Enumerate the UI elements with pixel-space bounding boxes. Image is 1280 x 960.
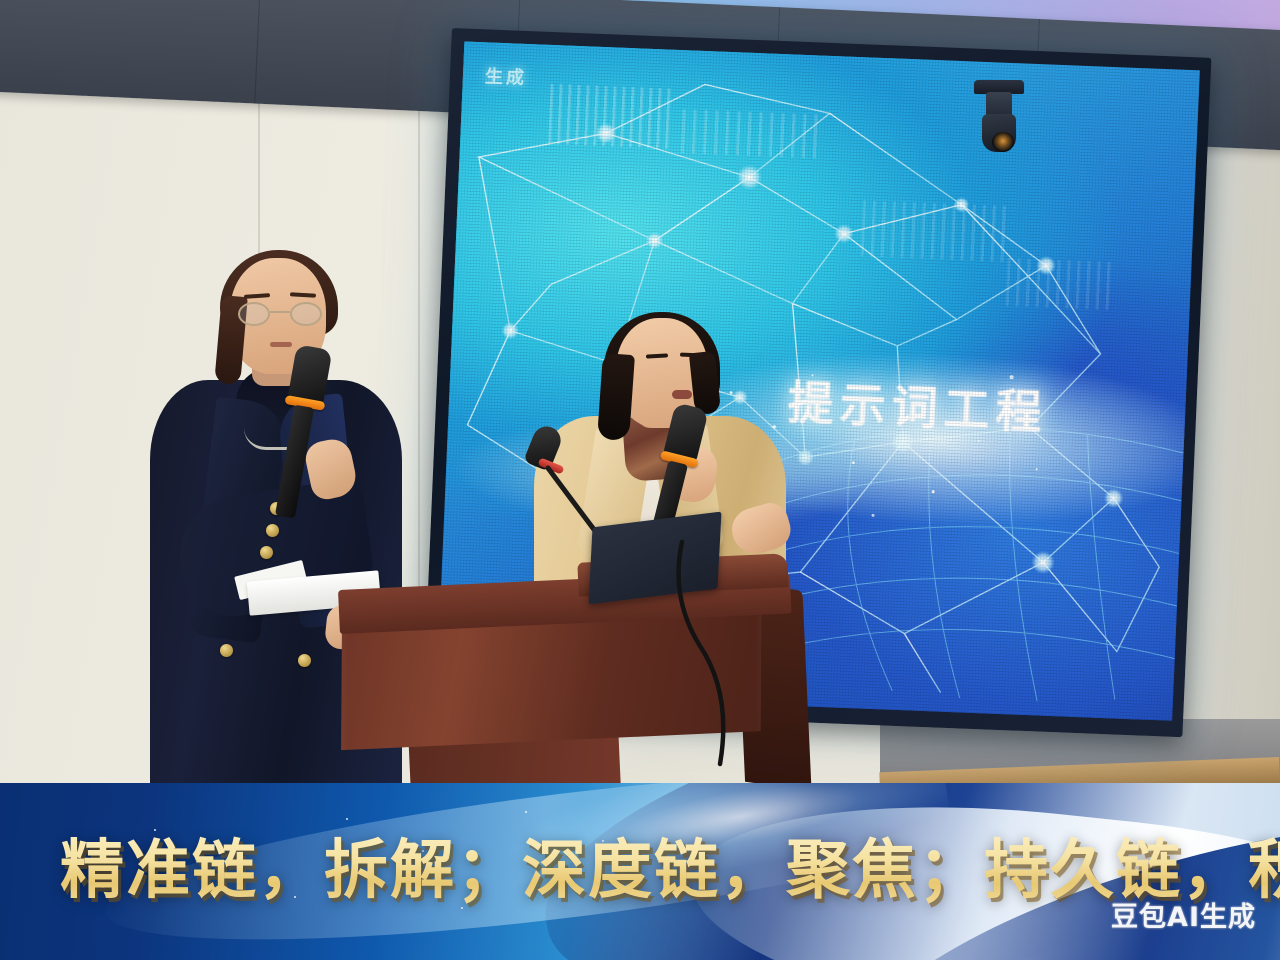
ceiling-camera (968, 80, 1030, 156)
room-scene: 生成 提示词工程 (0, 0, 1280, 783)
podium (338, 548, 808, 783)
eyeglasses (238, 302, 322, 326)
camera-lens-icon (992, 132, 1014, 152)
ai-watermark: 豆包AI生成 (1111, 895, 1256, 934)
banner-headline: 精准链，拆解；深度链，聚焦；持久链，积累 (60, 819, 1280, 911)
bottom-caption-banner: 精准链，拆解；深度链，聚焦；持久链，积累 豆包AI生成 (0, 783, 1280, 960)
microphone-cable (668, 538, 788, 768)
screenshot-root: 生成 提示词工程 (0, 0, 1280, 960)
